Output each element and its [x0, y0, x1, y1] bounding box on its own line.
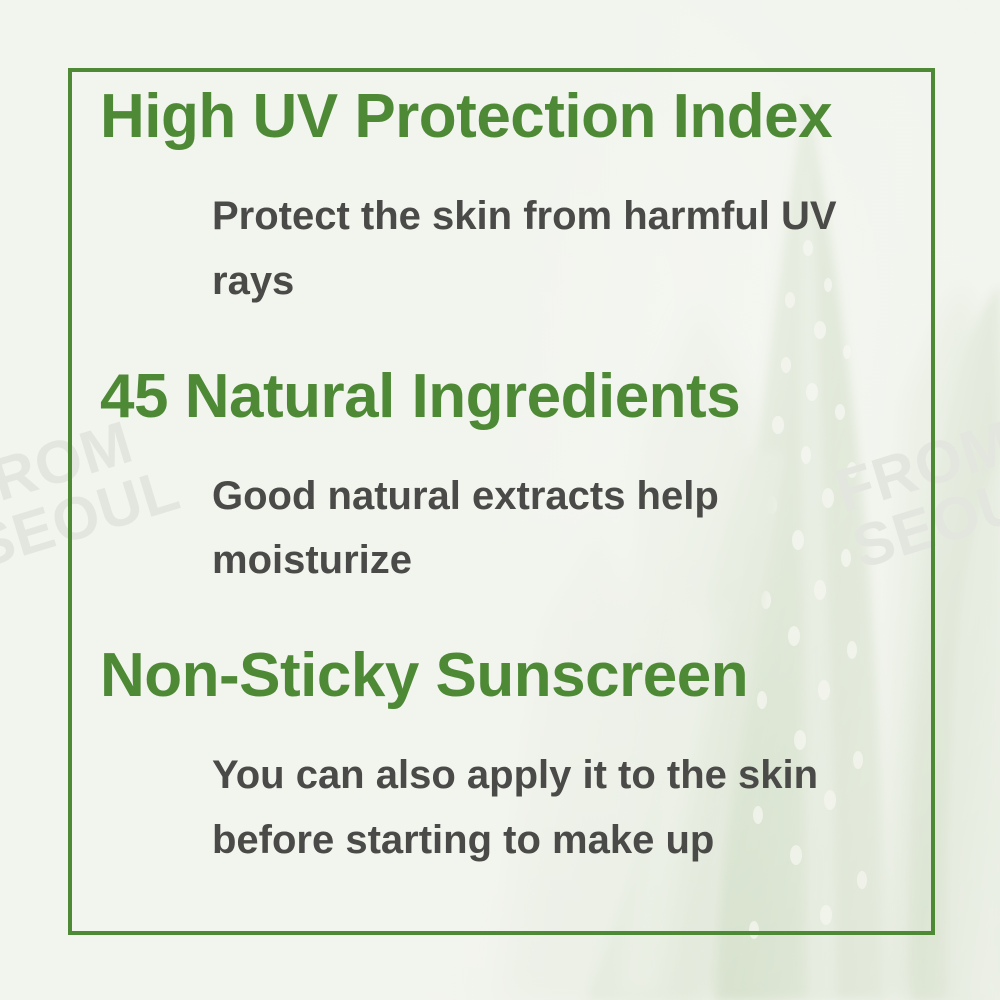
- feature-item-non-sticky: Non-Sticky Sunscreen You can also apply …: [100, 645, 900, 873]
- feature-item-natural-ingredients: 45 Natural Ingredients Good natural extr…: [100, 366, 900, 594]
- feature-description: Good natural extracts help moisturize: [100, 464, 900, 594]
- feature-title: 45 Natural Ingredients: [100, 366, 900, 428]
- product-feature-poster: FROM SEOUL FROM SEOUL High UV Protection…: [0, 0, 1000, 1000]
- feature-title: High UV Protection Index: [100, 86, 900, 148]
- feature-title: Non-Sticky Sunscreen: [100, 645, 900, 707]
- feature-list: High UV Protection Index Protect the ski…: [100, 86, 900, 879]
- feature-description: You can also apply it to the skin before…: [100, 743, 900, 873]
- feature-item-uv-protection: High UV Protection Index Protect the ski…: [100, 86, 900, 314]
- feature-description: Protect the skin from harmful UV rays: [100, 184, 900, 314]
